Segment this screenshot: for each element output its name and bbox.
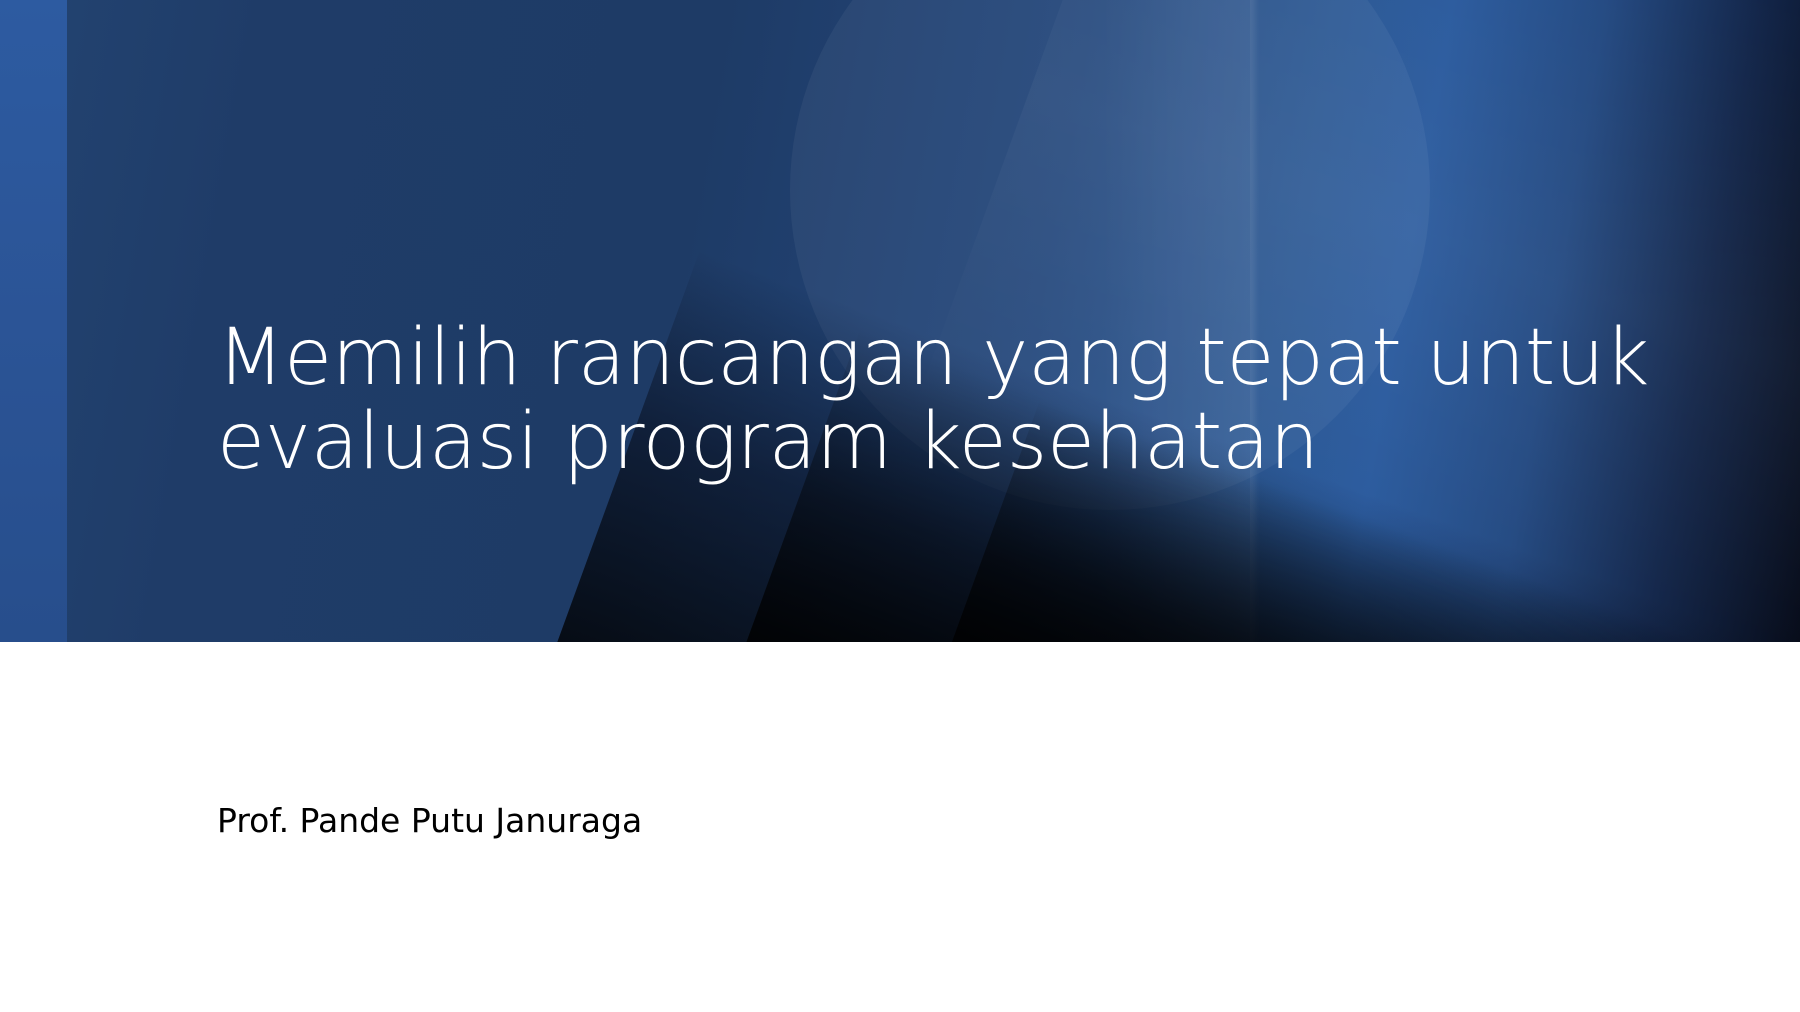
left-accent-stripe — [0, 0, 67, 642]
slide-subtitle[interactable]: Prof. Pande Putu Januraga — [217, 800, 1517, 842]
author-name: Prof. Pande Putu Januraga — [217, 800, 1517, 842]
slide-title-line-2: evaluasi program kesehatan — [217, 400, 1517, 484]
title-slide: Memilih rancangan yang tepat untuk evalu… — [0, 0, 1800, 1012]
slide-title[interactable]: Memilih rancangan yang tepat untuk evalu… — [217, 316, 1517, 484]
slide-title-line-1: Memilih rancangan yang tepat untuk — [217, 316, 1517, 400]
